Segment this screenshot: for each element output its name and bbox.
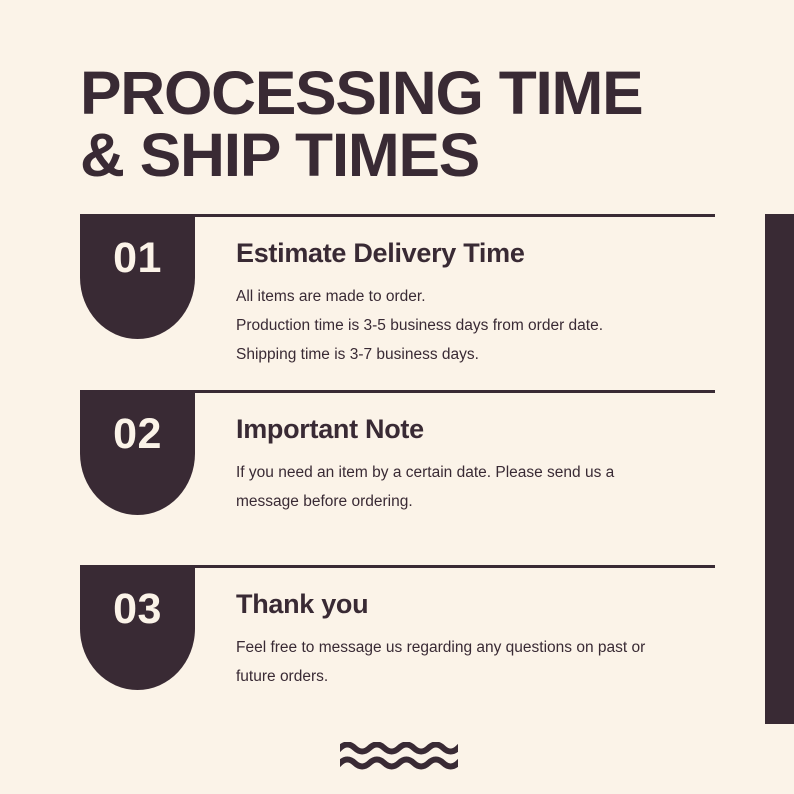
page-title: PROCESSING TIME & SHIP TIMES (80, 62, 740, 186)
body-line: Shipping time is 3-7 business days. (236, 340, 726, 369)
right-accent-bar (765, 214, 794, 724)
step-number-badge: 03 (80, 565, 195, 690)
section-paragraph: Feel free to message us regarding any qu… (236, 633, 726, 691)
page-title-line-2: & SHIP TIMES (80, 124, 753, 186)
section-paragraph: All items are made to order. Production … (236, 282, 726, 369)
double-wave-divider-icon (340, 742, 458, 772)
body-line: message before ordering. (236, 487, 726, 516)
step-number-badge: 01 (80, 214, 195, 339)
body-line: All items are made to order. (236, 282, 726, 311)
body-line: future orders. (236, 662, 726, 691)
poster-canvas: PROCESSING TIME & SHIP TIMES 01 Estimate… (0, 0, 794, 794)
section-heading: Thank you (236, 588, 726, 620)
section-content: Estimate Delivery Time All items are mad… (236, 237, 726, 369)
section-divider (195, 390, 715, 393)
step-number-label: 01 (113, 236, 162, 280)
section-heading: Important Note (236, 413, 726, 445)
body-line: Production time is 3-5 business days fro… (236, 311, 726, 340)
section-paragraph: If you need an item by a certain date. P… (236, 458, 726, 516)
section-heading: Estimate Delivery Time (236, 237, 726, 269)
section-divider (195, 565, 715, 568)
section-content: Important Note If you need an item by a … (236, 413, 726, 516)
page-title-line-1: PROCESSING TIME (80, 62, 753, 124)
section-divider (195, 214, 715, 217)
section-content: Thank you Feel free to message us regard… (236, 588, 726, 691)
body-line: If you need an item by a certain date. P… (236, 458, 726, 487)
step-number-badge: 02 (80, 390, 195, 515)
step-number-label: 03 (113, 587, 162, 631)
step-number-label: 02 (113, 412, 162, 456)
body-line: Feel free to message us regarding any qu… (236, 633, 726, 662)
